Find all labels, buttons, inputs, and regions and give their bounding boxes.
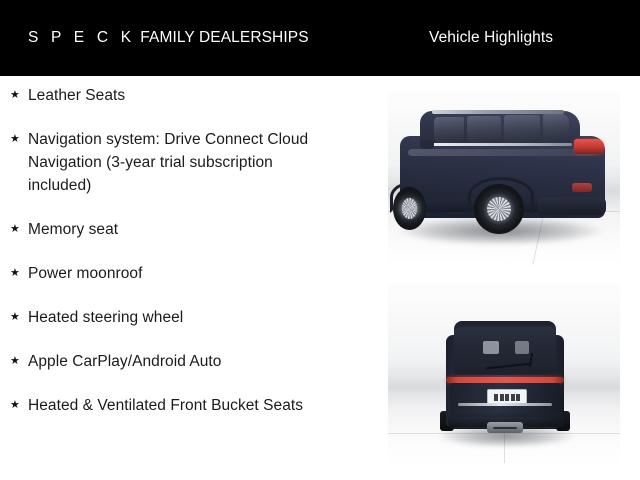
brand-mark-text: S P E C K (28, 29, 135, 46)
wheel-arch (468, 177, 534, 215)
feature-label: Leather Seats (28, 84, 328, 107)
rear-bumper (538, 197, 606, 215)
list-item: ★ Leather Seats (0, 84, 370, 107)
window-glass (434, 117, 464, 143)
feature-label: Power moonroof (28, 262, 328, 285)
vehicle-feature-list: ★ Leather Seats ★ Navigation system: Dri… (0, 84, 370, 417)
window-glass (467, 116, 501, 143)
plate-char (500, 394, 504, 401)
feature-label: Navigation system: Drive Connect Cloud N… (28, 128, 328, 197)
list-item: ★ Apple CarPlay/Android Auto (0, 350, 370, 373)
list-item: ★ Memory seat (0, 218, 370, 241)
page-title: Vehicle Highlights (429, 28, 553, 48)
front-wheel (393, 187, 426, 230)
rear-diffuser (487, 422, 523, 433)
window-glass (504, 115, 540, 143)
list-item: ★ Heated steering wheel (0, 306, 370, 329)
suv-illustration (388, 283, 620, 463)
window-glass (543, 114, 569, 142)
feature-label: Heated & Ventilated Front Bucket Seats (28, 394, 328, 417)
vehicle-photo-rear-three-quarter (388, 91, 620, 265)
list-item: ★ Power moonroof (0, 262, 370, 285)
list-item: ★ Navigation system: Drive Connect Cloud… (0, 128, 370, 197)
star-icon: ★ (10, 218, 28, 241)
chrome-beltline (432, 143, 572, 146)
list-item: ★ Heated & Ventilated Front Bucket Seats (0, 394, 370, 417)
star-icon: ★ (10, 306, 28, 329)
brand-logo: S P E C KFAMILY DEALERSHIPS (28, 28, 309, 48)
star-icon: ★ (10, 262, 28, 285)
header-bar: S P E C KFAMILY DEALERSHIPS Vehicle High… (0, 0, 640, 76)
chrome-trim (458, 403, 552, 406)
brand-rest-text: FAMILY DEALERSHIPS (140, 29, 308, 46)
rear-window-glass (454, 327, 556, 375)
feature-label: Memory seat (28, 218, 328, 241)
taillight (574, 139, 604, 154)
star-icon: ★ (10, 350, 28, 373)
star-icon: ★ (10, 394, 28, 417)
taillight-lower (572, 183, 592, 192)
star-icon: ★ (10, 128, 28, 151)
side-mirror (420, 140, 434, 149)
feature-label: Heated steering wheel (28, 306, 328, 329)
slide-content: ★ Leather Seats ★ Navigation system: Dri… (0, 76, 640, 480)
feature-label: Apple CarPlay/Android Auto (28, 350, 328, 373)
plate-char (505, 394, 509, 401)
plate-char (494, 394, 498, 401)
plate-char (511, 394, 515, 401)
plate-char (516, 394, 520, 401)
vehicle-photo-rear (388, 283, 620, 463)
star-icon: ★ (10, 84, 28, 107)
suv-illustration (388, 91, 620, 265)
